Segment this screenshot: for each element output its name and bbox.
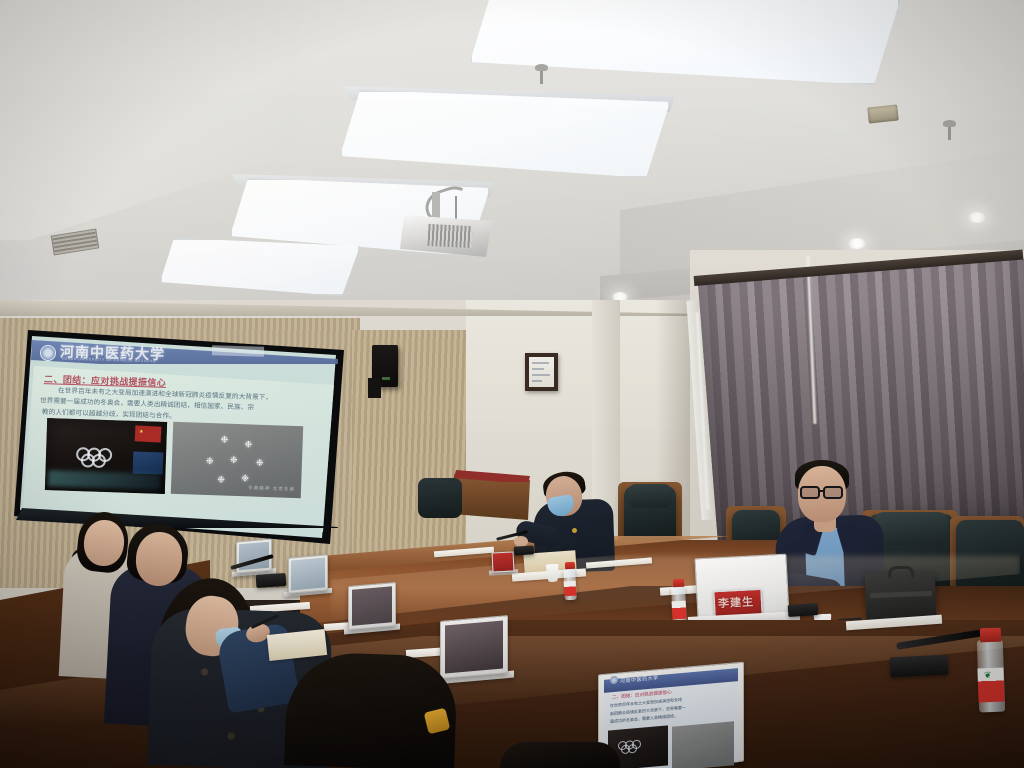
snowflake-icon-4: ❉ xyxy=(241,474,249,483)
wood-wall-panel-mid xyxy=(352,330,472,560)
nameplate-2-text: 李建生 xyxy=(718,593,761,611)
chair-3[interactable] xyxy=(418,478,462,518)
sprinkler-head-icon-2 xyxy=(943,120,956,127)
water-bottle-2-label xyxy=(672,601,687,620)
snowflake-icon-7: ❉ xyxy=(230,456,238,465)
flip-monitor-3-screen xyxy=(352,586,392,625)
microphone-1[interactable] xyxy=(256,573,287,588)
nameplate-1 xyxy=(491,551,514,572)
bottle-leaf-icon: ❦ xyxy=(984,670,992,681)
sprinkler-head-icon xyxy=(535,64,548,71)
microphone-2[interactable] xyxy=(890,654,949,677)
slide-header-placeholder-box xyxy=(212,345,264,356)
snowflake-icon-5: ❉ xyxy=(217,475,225,484)
university-seal-icon xyxy=(40,345,56,361)
briefcase-handle xyxy=(888,566,914,579)
microphone-4[interactable] xyxy=(788,603,819,617)
downlight-8 xyxy=(968,212,986,223)
snowflake-icon-6: ❉ xyxy=(206,457,214,466)
olympic-rings-icon xyxy=(76,447,133,469)
foreground-laptop-image-snowflakes xyxy=(672,721,734,768)
foreground-person-head-2 xyxy=(500,742,620,768)
glasses-icon-bridge xyxy=(819,490,825,492)
flip-monitor-2-screen xyxy=(291,558,325,591)
water-bottle-1-cap xyxy=(565,562,575,570)
chair-headrest-4 xyxy=(874,512,948,546)
glasses-icon-left-lens xyxy=(800,486,820,499)
water-bottle-3-cap xyxy=(980,628,1001,643)
lapel-pin-icon xyxy=(572,528,577,533)
water-bottle-1-label xyxy=(564,581,577,597)
slide-image-inset xyxy=(133,451,164,474)
snowflake-icon-2: ❉ xyxy=(244,440,252,449)
chair-headrest-1 xyxy=(628,484,672,508)
water-bottle-2-cap xyxy=(673,579,684,588)
projector-mount-pole xyxy=(432,192,440,218)
downlight-7 xyxy=(848,238,866,249)
conference-room-photo: 河南中医药大学 HENAN UNIVERSITY OF CHINESE MEDI… xyxy=(0,0,1024,768)
flip-monitor-4-screen xyxy=(445,620,503,673)
wall-speaker-bracket xyxy=(368,378,381,398)
snowflake-icon-1: ❉ xyxy=(221,435,229,444)
sprinkler-icon xyxy=(540,70,543,84)
framed-picture-content xyxy=(529,357,554,387)
glasses-icon-right-lens xyxy=(823,486,843,499)
ceiling-fixture-right xyxy=(867,104,899,123)
foreground-person-head-1 xyxy=(284,651,458,768)
sprinkler-icon-2 xyxy=(948,126,951,140)
snowflake-icon-3: ❉ xyxy=(256,459,264,468)
microphone-3[interactable] xyxy=(514,545,535,555)
wall-speaker-led-icon xyxy=(382,377,390,380)
flag-star-icon: ★ xyxy=(139,429,144,435)
projector-vent-grille xyxy=(427,224,472,248)
